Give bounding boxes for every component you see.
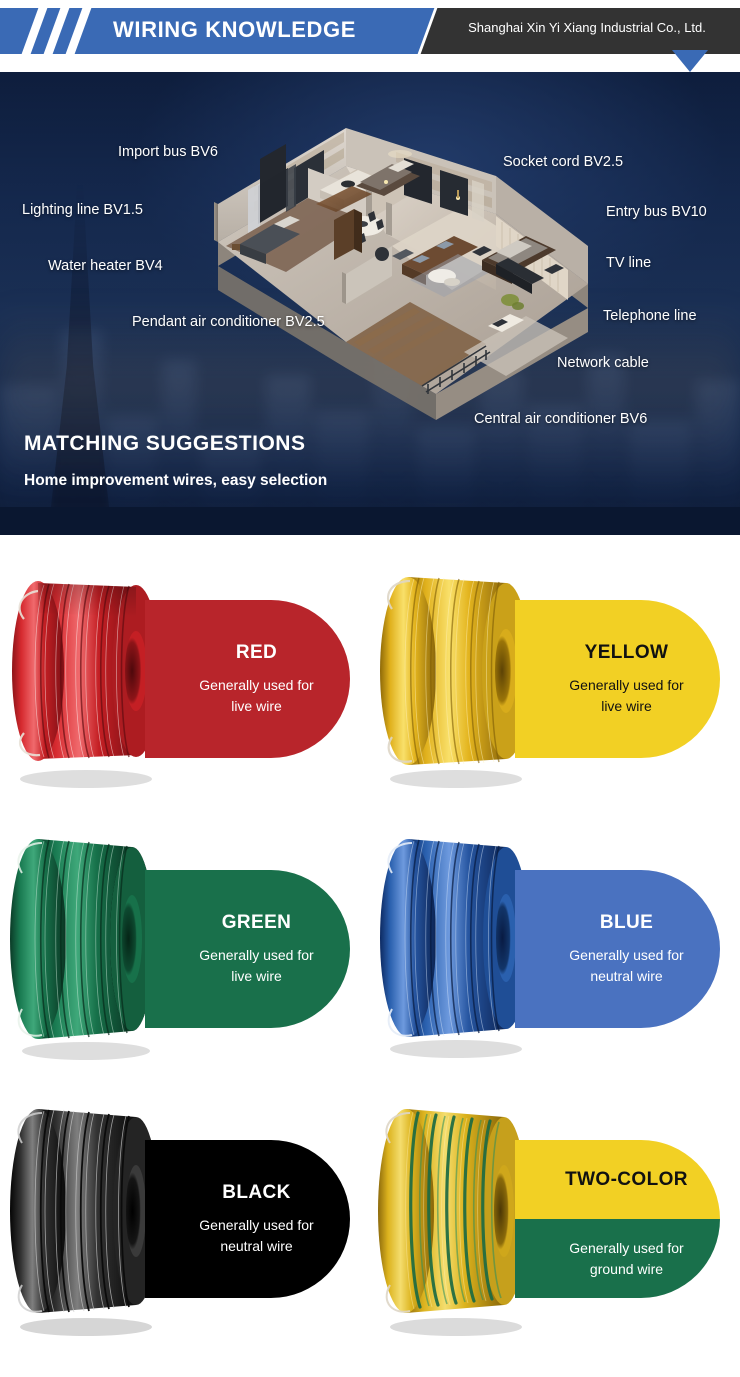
- hero-label-pendant-ac: Pendant air conditioner BV2.5: [132, 314, 325, 330]
- wire-banner-black: BLACK Generally used for neutral wire: [145, 1140, 350, 1298]
- chevron-down-icon: [672, 50, 708, 72]
- wire-title-green: GREEN: [222, 912, 292, 934]
- wire-title-black: BLACK: [222, 1182, 291, 1204]
- wire-card-red: RED Generally used for live wire: [0, 535, 370, 805]
- wire-banner-red: RED Generally used for live wire: [145, 600, 350, 758]
- hero-label-telephone-line: Telephone line: [603, 308, 697, 324]
- wire-coil-green: [8, 817, 168, 1062]
- wire-banner-blue: BLUE Generally used for neutral wire: [515, 870, 720, 1028]
- wire-desc-two-color-line2: ground wire: [590, 1261, 663, 1277]
- wire-banner-yellow: YELLOW Generally used for live wire: [515, 600, 720, 758]
- wire-desc-blue-line2: neutral wire: [590, 968, 662, 984]
- hero-label-tv-line: TV line: [606, 255, 651, 271]
- wire-desc-red: Generally used for live wire: [199, 675, 313, 716]
- wire-banner-two-color-bottom: Generally used for ground wire: [515, 1219, 720, 1298]
- wire-coil-two-color: [378, 1087, 538, 1339]
- wire-desc-yellow-line2: live wire: [601, 698, 652, 714]
- floorplan-illustration: [196, 94, 600, 454]
- page-header: WIRING KNOWLEDGE Shanghai Xin Yi Xiang I…: [0, 0, 740, 72]
- hero-subheading: Home improvement wires, easy selection: [24, 472, 327, 490]
- wire-card-blue: BLUE Generally used for neutral wire: [370, 805, 740, 1075]
- wire-card-two-color: TWO-COLOR Generally used for ground wire: [370, 1075, 740, 1362]
- wire-desc-yellow: Generally used for live wire: [569, 675, 683, 716]
- wire-desc-red-line1: Generally used for: [199, 677, 313, 693]
- hero-label-socket-cord: Socket cord BV2.5: [503, 154, 623, 170]
- hero-bottom-strip: [0, 507, 740, 535]
- wire-card-yellow: YELLOW Generally used for live wire: [370, 535, 740, 805]
- wire-coil-blue: [378, 817, 538, 1062]
- wire-desc-black-line1: Generally used for: [199, 1217, 313, 1233]
- hero-label-entry-bus: Entry bus BV10: [606, 204, 707, 220]
- wire-desc-blue-line1: Generally used for: [569, 947, 683, 963]
- wire-coil-black: [8, 1087, 168, 1339]
- hero-label-import-bus: Import bus BV6: [118, 144, 218, 160]
- wire-desc-green-line2: live wire: [231, 968, 282, 984]
- wire-title-red: RED: [236, 642, 277, 664]
- wire-banner-green: GREEN Generally used for live wire: [145, 870, 350, 1028]
- wire-desc-green: Generally used for live wire: [199, 945, 313, 986]
- wire-banner-two-color-top: TWO-COLOR: [515, 1140, 720, 1219]
- wire-card-green: GREEN Generally used for live wire: [0, 805, 370, 1075]
- wire-desc-two-color: Generally used for ground wire: [569, 1238, 683, 1279]
- wire-card-black: BLACK Generally used for neutral wire: [0, 1075, 370, 1362]
- page-root: WIRING KNOWLEDGE Shanghai Xin Yi Xiang I…: [0, 0, 740, 1377]
- wire-desc-blue: Generally used for neutral wire: [569, 945, 683, 986]
- hero-label-central-ac: Central air conditioner BV6: [474, 411, 647, 427]
- wire-banner-two-color: TWO-COLOR Generally used for ground wire: [515, 1140, 720, 1298]
- page-title: WIRING KNOWLEDGE: [113, 17, 356, 43]
- wire-desc-black: Generally used for neutral wire: [199, 1215, 313, 1256]
- hero-label-water-heater: Water heater BV4: [48, 258, 163, 274]
- wire-title-yellow: YELLOW: [585, 642, 669, 664]
- wire-desc-two-color-line1: Generally used for: [569, 1240, 683, 1256]
- wire-desc-red-line2: live wire: [231, 698, 282, 714]
- wire-title-two-color: TWO-COLOR: [565, 1169, 688, 1191]
- hero-label-network-cable: Network cable: [557, 355, 649, 371]
- wire-coil-yellow: [378, 547, 538, 792]
- hero-label-lighting-line: Lighting line BV1.5: [22, 202, 143, 218]
- wire-desc-black-line2: neutral wire: [220, 1238, 292, 1254]
- wire-desc-green-line1: Generally used for: [199, 947, 313, 963]
- wire-title-blue: BLUE: [600, 912, 653, 934]
- company-name: Shanghai Xin Yi Xiang Industrial Co., Lt…: [447, 20, 727, 35]
- wire-color-cards: RED Generally used for live wire: [0, 535, 740, 1377]
- wire-coil-red: [8, 547, 168, 792]
- hero-heading: MATCHING SUGGESTIONS: [24, 432, 305, 456]
- hero-section: Import bus BV6 Lighting line BV1.5 Water…: [0, 72, 740, 535]
- wire-desc-yellow-line1: Generally used for: [569, 677, 683, 693]
